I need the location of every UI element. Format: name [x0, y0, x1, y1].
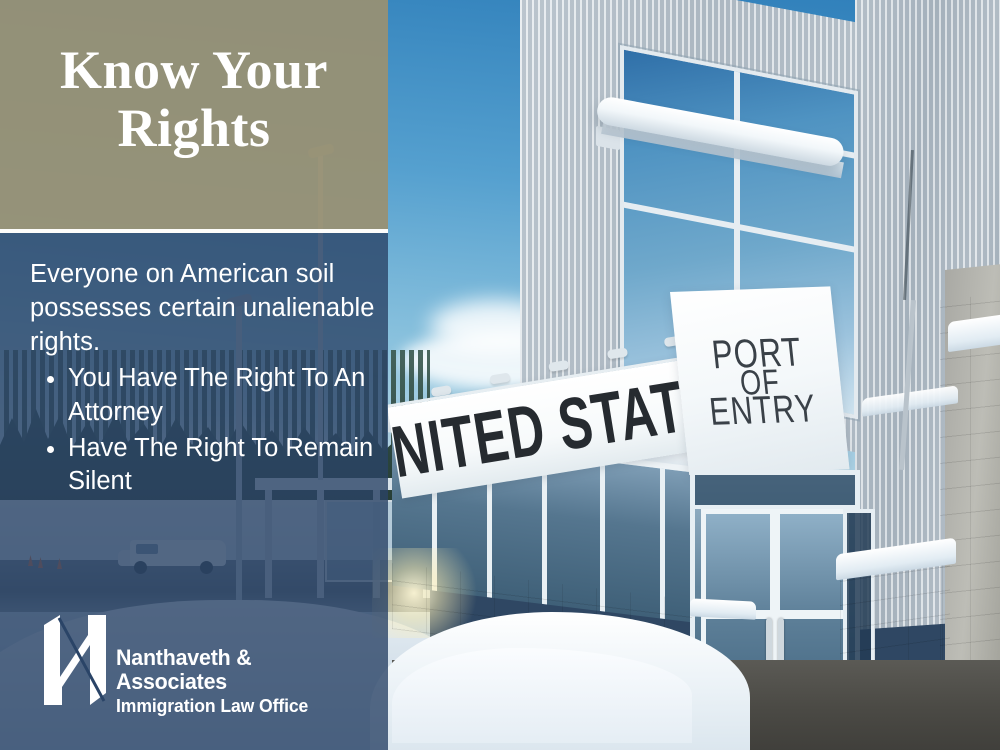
- firm-tagline: Immigration Law Office: [116, 696, 342, 716]
- list-item: You Have The Right To An Attorney: [68, 362, 380, 430]
- firm-logo-text: Nanthaveth & Associates Immigration Law …: [116, 646, 354, 716]
- snow-cap: [690, 598, 756, 619]
- port-of-entry-line-3: ENTRY: [708, 392, 818, 433]
- n-monogram-icon: [44, 615, 106, 705]
- transom-window: [695, 475, 855, 509]
- door-handle: [766, 618, 772, 664]
- rights-list: You Have The Right To An Attorney Have T…: [30, 362, 380, 500]
- page-title: Know Your Rights: [0, 42, 388, 158]
- firm-name: Nanthaveth & Associates: [116, 646, 342, 694]
- intro-paragraph: Everyone on American soil possesses cert…: [30, 258, 380, 360]
- firm-logo: Nanthaveth & Associates Immigration Law …: [44, 615, 354, 707]
- door-handle: [778, 618, 784, 664]
- know-your-rights-graphic: UNITED STATES PORT OF ENTRY: [0, 0, 1000, 750]
- rights-content: Everyone on American soil possesses cert…: [30, 258, 380, 501]
- list-item: Have The Right To Remain Silent: [68, 432, 380, 500]
- port-of-entry-sign: PORT OF ENTRY: [670, 286, 850, 475]
